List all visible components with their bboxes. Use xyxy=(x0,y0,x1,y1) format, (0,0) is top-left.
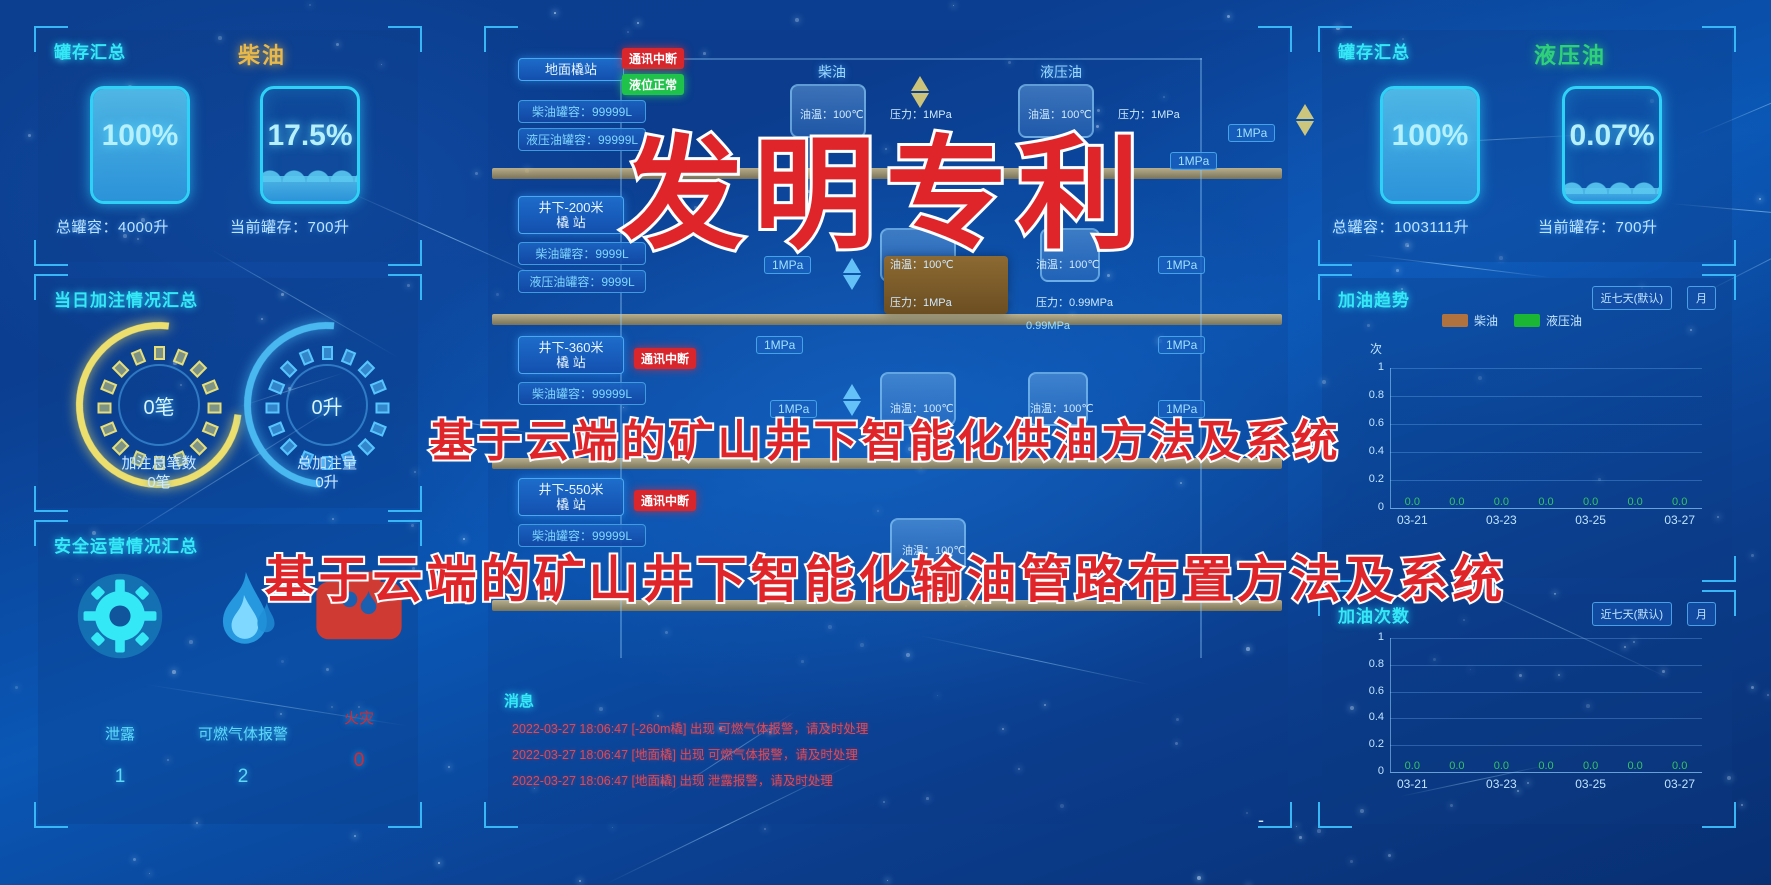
chart-point-label: 0.0 xyxy=(1621,760,1649,772)
chart-x-axis xyxy=(1390,508,1702,509)
corner-bracket-icon xyxy=(34,802,68,828)
corner-bracket-icon xyxy=(1258,26,1292,52)
chart-gridline xyxy=(1390,745,1702,746)
chart-point-label: 0.0 xyxy=(1532,760,1560,772)
range-button-week[interactable]: 近七天(默认) xyxy=(1592,286,1672,310)
legend-item-hydraulic[interactable]: 液压油 xyxy=(1514,312,1582,329)
tank-current-stock: 17.5% xyxy=(260,86,360,204)
station-tag-550m[interactable]: 井下-550米 橇 站 xyxy=(518,478,624,516)
chart-point-label: 0.0 xyxy=(1666,496,1694,508)
gauge-caption-value: 0笔 xyxy=(84,473,234,492)
tank-current-caption: 当前罐存：700升 xyxy=(1538,216,1658,237)
panel-right-refuel-count: 加油次数 近七天(默认) 月 00.20.40.60.810.003-210.0… xyxy=(1322,594,1732,824)
capacity-tag-diesel: 柴油罐容：99999L xyxy=(518,382,646,405)
corner-bracket-icon xyxy=(388,802,422,828)
chart-point-label: 0.0 xyxy=(1577,496,1605,508)
chart-y-axis xyxy=(1390,368,1391,508)
chart-x-tick-label: 03-27 xyxy=(1654,777,1706,791)
corner-bracket-icon xyxy=(1702,26,1736,52)
chart-y-tick-label: 0.8 xyxy=(1356,389,1384,401)
capacity-tag-hydraulic: 液压油罐容：9999L xyxy=(518,270,646,293)
tank-current-caption: 当前罐存：700升 xyxy=(230,216,350,237)
tank-fill xyxy=(1565,188,1659,201)
gauge-caption-count: 加注总笔数 0笔 xyxy=(84,454,234,492)
pressure-tag: 1MPa xyxy=(1170,152,1217,170)
chart-y-tick-label: 0.2 xyxy=(1356,738,1384,750)
pressure-tag: 1MPa xyxy=(756,336,803,354)
panel-title: 安全运营情况汇总 xyxy=(54,532,198,557)
safety-value-fire: 0 xyxy=(304,750,414,772)
chart-x-tick-label: 03-23 xyxy=(1475,513,1527,527)
station-tag-360m[interactable]: 井下-360米 橇 站 xyxy=(518,336,624,374)
chart-gridline xyxy=(1390,452,1702,453)
chart-gridline xyxy=(1390,718,1702,719)
sensor-tag-pressure: 压力：0.99MPa xyxy=(1036,294,1113,310)
panel-right-refuel-trend: 加油趋势 近七天(默认) 月 柴油 液压油 次 00.20.40.60.810.… xyxy=(1322,278,1732,578)
chart-plot-area-count: 00.20.40.60.810.003-210.00.003-230.00.00… xyxy=(1356,630,1712,796)
panel-right-tank-summary: 罐存汇总 液压油 100% 总罐容：1003111升 0.07% 当前罐存：70… xyxy=(1322,30,1732,262)
station-tag-surface[interactable]: 地面橇站 xyxy=(518,58,624,81)
safety-label-fire: 火灾 xyxy=(304,707,414,728)
corner-bracket-icon xyxy=(484,802,518,828)
corner-bracket-icon xyxy=(1318,240,1352,266)
tank-percent: 0.07% xyxy=(1565,119,1659,153)
chart-x-tick-label: 03-21 xyxy=(1386,777,1438,791)
chart-point-label: 0.0 xyxy=(1443,496,1471,508)
panel-accent-title: 柴油 xyxy=(238,38,286,70)
gauge-caption-value: 0升 xyxy=(252,473,402,492)
chart-point-label: 0.0 xyxy=(1532,496,1560,508)
safety-value-gas-alarm: 2 xyxy=(178,766,308,788)
corner-bracket-icon xyxy=(388,240,422,266)
chart-y-tick-label: 0.2 xyxy=(1356,473,1384,485)
gauge-caption-title: 总加注量 xyxy=(252,454,402,473)
chart-point-label: 0.0 xyxy=(1443,760,1471,772)
chart-x-tick-label: 03-21 xyxy=(1386,513,1438,527)
tank-percent: 100% xyxy=(93,119,187,153)
chart-y-tick-label: 0 xyxy=(1356,765,1384,777)
chart-point-label: 0.0 xyxy=(1577,760,1605,772)
panel-left-daily-refuel: 当日加注情况汇总 0笔 加注总笔数 0笔 0升 总加注量 0升 xyxy=(38,278,418,508)
chart-y-tick-label: 1 xyxy=(1356,361,1384,373)
station-name-line1: 井下-550米 xyxy=(527,482,615,497)
pressure-tag: 1MPa xyxy=(1158,336,1205,354)
chart-y-tick-label: 0 xyxy=(1356,501,1384,513)
station-name-line1: 井下-360米 xyxy=(527,340,615,355)
status-badge-comm: 通讯中断 xyxy=(622,48,684,69)
chart-y-tick-label: 1 xyxy=(1356,631,1384,643)
tank-current-stock: 0.07% xyxy=(1562,86,1662,204)
corner-bracket-icon xyxy=(34,486,68,512)
zoom-out-button[interactable]: - xyxy=(1258,810,1264,831)
pressure-tag: 1MPa xyxy=(1228,124,1275,142)
corner-bracket-icon xyxy=(1702,240,1736,266)
panel-accent-title: 液压油 xyxy=(1534,38,1606,70)
chart-y-unit: 次 xyxy=(1370,340,1382,357)
tank-fill xyxy=(263,176,357,201)
pressure-tag: 1MPa xyxy=(1158,256,1205,274)
tank-percent: 100% xyxy=(1383,119,1477,153)
chart-gridline xyxy=(1390,638,1702,639)
gauge-caption-title: 加注总笔数 xyxy=(84,454,234,473)
panel-title: 罐存汇总 xyxy=(1338,38,1410,63)
range-button-month[interactable]: 月 xyxy=(1687,286,1716,310)
watermark-line-2: 基于云端的矿山井下智能化输油管路布置方法及系统 xyxy=(265,540,1507,612)
gear-leak-icon xyxy=(72,568,168,664)
chart-gridline xyxy=(1390,368,1702,369)
chart-legend-trend: 柴油 液压油 xyxy=(1442,312,1582,329)
station-tag-200m[interactable]: 井下-200米 橇 站 xyxy=(518,196,624,234)
safety-value-leak: 1 xyxy=(60,766,180,788)
pressure-tag-low: 0.99MPa xyxy=(1026,320,1070,332)
corner-bracket-icon xyxy=(1702,556,1736,582)
chart-plot-area-trend: 00.20.40.60.810.003-210.00.003-230.00.00… xyxy=(1356,360,1712,532)
legend-item-diesel[interactable]: 柴油 xyxy=(1442,312,1498,329)
chart-x-tick-label: 03-27 xyxy=(1654,513,1706,527)
dashboard-screen: 罐存汇总 柴油 100% 总罐容：4000升 17.5% 当前罐存：700升 当… xyxy=(0,0,1771,885)
chart-point-label: 0.0 xyxy=(1487,760,1515,772)
chart-y-axis xyxy=(1390,638,1391,772)
tank-total-capacity: 100% xyxy=(1380,86,1480,204)
safety-label-gas-alarm: 可燃气体报警 xyxy=(178,723,308,744)
chart-y-tick-label: 0.8 xyxy=(1356,658,1384,670)
corner-bracket-icon xyxy=(388,26,422,52)
legend-swatch-icon xyxy=(1442,314,1468,327)
chart-y-tick-label: 0.6 xyxy=(1356,685,1384,697)
chart-x-tick-label: 03-25 xyxy=(1565,513,1617,527)
chart-x-tick-label: 03-23 xyxy=(1475,777,1527,791)
tank-total-caption: 总罐容：1003111升 xyxy=(1332,216,1469,237)
corner-bracket-icon xyxy=(1702,802,1736,828)
corner-bracket-icon xyxy=(484,26,518,52)
station-name-line2: 橇 站 xyxy=(527,497,615,512)
watermark-line-1: 基于云端的矿山井下智能化供油方法及系统 xyxy=(430,405,1342,469)
message-line: 2022-03-27 18:06:47 [地面橇] 出现 可燃气体报警，请及时处… xyxy=(512,744,858,763)
chart-y-tick-label: 0.6 xyxy=(1356,417,1384,429)
range-button-month[interactable]: 月 xyxy=(1687,602,1716,626)
chart-gridline xyxy=(1390,692,1702,693)
legend-swatch-icon xyxy=(1514,314,1540,327)
tank-percent: 17.5% xyxy=(263,119,357,153)
station-name-line1: 井下-200米 xyxy=(527,200,615,215)
wave-icon xyxy=(1562,180,1662,194)
panel-left-tank-summary: 罐存汇总 柴油 100% 总罐容：4000升 17.5% 当前罐存：700升 xyxy=(38,30,418,262)
message-line: 2022-03-27 18:06:47 [-260m橇] 出现 可燃气体报警，请… xyxy=(512,718,868,737)
panel-title: 罐存汇总 xyxy=(54,38,126,63)
tank-total-caption: 总罐容：4000升 xyxy=(56,216,169,237)
corner-bracket-icon xyxy=(1318,802,1352,828)
wave-icon xyxy=(260,168,360,182)
safety-label-leak: 泄露 xyxy=(60,723,180,744)
chart-y-tick-label: 0.4 xyxy=(1356,445,1384,457)
station-name-line2: 橇 站 xyxy=(527,215,615,230)
corner-bracket-icon xyxy=(34,240,68,266)
chart-point-label: 0.0 xyxy=(1487,496,1515,508)
messages-title: 消息 xyxy=(504,690,534,711)
station-name-line2: 橇 站 xyxy=(527,355,615,370)
chart-gridline xyxy=(1390,396,1702,397)
chart-gridline xyxy=(1390,480,1702,481)
oil-label-diesel: 柴油 xyxy=(818,62,846,82)
panel-title: 当日加注情况汇总 xyxy=(54,286,198,311)
legend-label: 液压油 xyxy=(1546,312,1582,329)
oil-label-hydraulic: 液压油 xyxy=(1040,62,1082,82)
status-badge-level: 液位正常 xyxy=(622,74,684,95)
tank-total-capacity: 100% xyxy=(90,86,190,204)
chart-point-label: 0.0 xyxy=(1621,496,1649,508)
status-badge-comm: 通讯中断 xyxy=(634,348,696,369)
status-badge-comm: 通讯中断 xyxy=(634,490,696,511)
chart-gridline xyxy=(1390,424,1702,425)
chart-x-tick-label: 03-25 xyxy=(1565,777,1617,791)
sensor-tag-pressure: 压力：1MPa xyxy=(890,294,952,310)
range-button-week[interactable]: 近七天(默认) xyxy=(1592,602,1672,626)
chart-point-label: 0.0 xyxy=(1398,496,1426,508)
watermark-patent-title: 发明专利 xyxy=(622,96,1150,273)
chart-gridline xyxy=(1390,665,1702,666)
legend-label: 柴油 xyxy=(1474,312,1498,329)
panel-title: 加油趋势 xyxy=(1338,286,1410,311)
chart-x-axis xyxy=(1390,772,1702,773)
message-line: 2022-03-27 18:06:47 [地面橇] 出现 泄露报警，请及时处理 xyxy=(512,770,833,789)
corner-bracket-icon xyxy=(388,274,422,300)
chart-point-label: 0.0 xyxy=(1666,760,1694,772)
safety-item-leak[interactable]: 泄露 1 xyxy=(60,568,180,788)
level-pipe-200m xyxy=(492,314,1282,325)
pipeline-horizontal xyxy=(620,58,1202,60)
gauge-caption-volume: 总加注量 0升 xyxy=(252,454,402,492)
chart-y-tick-label: 0.4 xyxy=(1356,711,1384,723)
chart-point-label: 0.0 xyxy=(1398,760,1426,772)
